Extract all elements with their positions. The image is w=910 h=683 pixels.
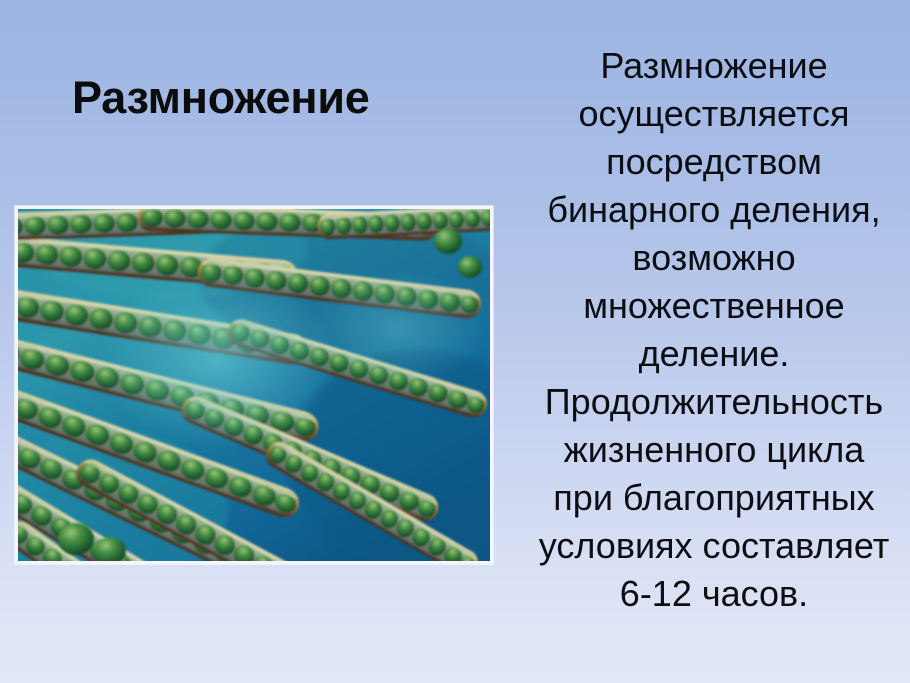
microscopy-illustration <box>18 209 490 561</box>
body-line: Размножение <box>518 42 910 90</box>
body-line: осуществляется <box>518 90 910 138</box>
body-line: множественное <box>518 282 910 330</box>
body-line: бинарного деления, <box>518 186 910 234</box>
body-line: возможно <box>518 234 910 282</box>
body-line: Продолжительность <box>518 378 910 426</box>
presentation-slide: Размножение <box>0 0 910 683</box>
body-line: деление. <box>518 330 910 378</box>
body-line: условиях составляет <box>518 522 910 570</box>
body-line: жизненного цикла <box>518 426 910 474</box>
body-line: при благоприятных <box>518 474 910 522</box>
body-text: Размножение осуществляется посредством б… <box>518 42 910 618</box>
body-line: 6-12 часов. <box>518 570 910 618</box>
photo-frame <box>15 206 493 564</box>
page-title: Размножение <box>72 74 492 121</box>
microscopy-photo <box>18 209 490 561</box>
body-line: посредством <box>518 138 910 186</box>
